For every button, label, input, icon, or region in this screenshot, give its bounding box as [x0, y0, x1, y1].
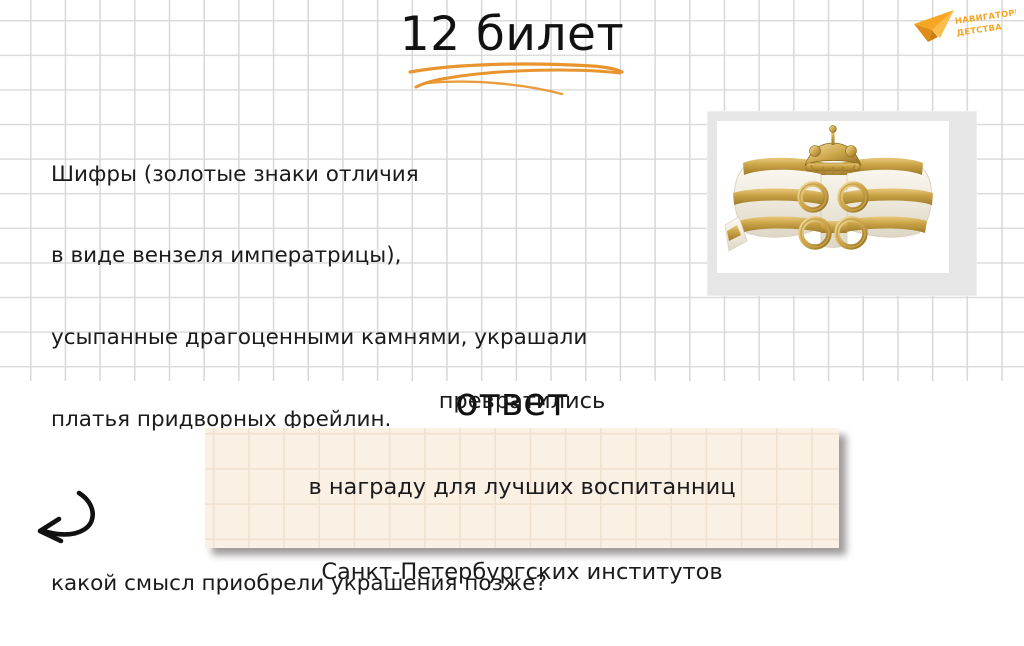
answer-box: превратились в награду для лучших воспит…	[205, 428, 839, 548]
paper-plane-icon: НАВИГАТОРЫ ДЕТСТВА	[912, 4, 1016, 52]
imperial-monogram-bow-illustration	[717, 121, 949, 273]
answer-text: превратились в награду для лучших воспит…	[308, 330, 735, 646]
answer-line-2: в награду для лучших воспитанниц	[308, 473, 735, 502]
question-line-1: Шифры (золотые знаки отличия	[51, 161, 751, 188]
photo-image	[717, 121, 949, 273]
answer-line-3: Санкт-Петербургских институтов	[308, 558, 735, 587]
page-title: 12 билет	[0, 6, 1024, 64]
answer-line-1: превратились	[308, 387, 735, 416]
question-line-2: в виде вензеля императрицы),	[51, 242, 751, 269]
brand-logo: НАВИГАТОРЫ ДЕТСТВА	[912, 4, 1016, 52]
photo-frame	[708, 112, 976, 295]
back-arrow-icon[interactable]	[33, 487, 125, 553]
